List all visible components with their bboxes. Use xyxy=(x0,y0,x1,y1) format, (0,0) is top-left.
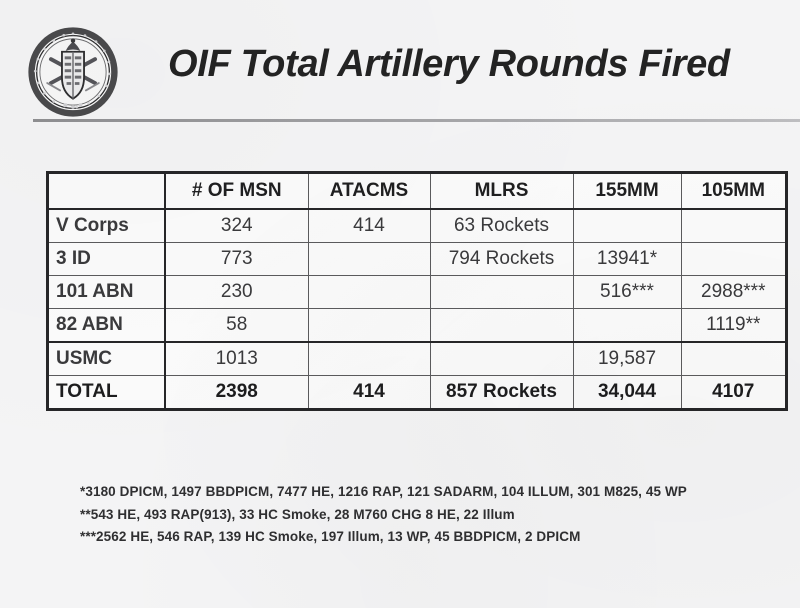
field-artillery-seal-icon xyxy=(27,26,119,118)
cell-mlrs: 857 Rockets xyxy=(430,376,573,410)
cell-atacms xyxy=(308,243,430,276)
title-divider-rule xyxy=(33,119,800,122)
cell-155mm xyxy=(573,309,681,343)
row-label-v-corps: V Corps xyxy=(48,209,165,243)
cell-msn: 773 xyxy=(165,243,308,276)
artillery-rounds-table: # OF MSN ATACMS MLRS 155MM 105MM V Corps… xyxy=(47,172,787,410)
cell-mlrs: 794 Rockets xyxy=(430,243,573,276)
cell-105mm xyxy=(681,342,786,376)
cell-155mm: 19,587 xyxy=(573,342,681,376)
cell-105mm: 2988*** xyxy=(681,276,786,309)
slide-header: OIF Total Artillery Rounds Fired xyxy=(0,0,800,132)
cell-155mm: 34,044 xyxy=(573,376,681,410)
footnotes-block: *3180 DPICM, 1497 BBDPICM, 7477 HE, 1216… xyxy=(80,482,780,547)
column-header-155mm: 155MM xyxy=(573,173,681,209)
cell-155mm xyxy=(573,209,681,243)
table-row: 82 ABN 58 1119** xyxy=(48,309,786,343)
table-row-total: TOTAL 2398 414 857 Rockets 34,044 4107 xyxy=(48,376,786,410)
table-row: USMC 1013 19,587 xyxy=(48,342,786,376)
table-row: 3 ID 773 794 Rockets 13941* xyxy=(48,243,786,276)
table-row: V Corps 324 414 63 Rockets xyxy=(48,209,786,243)
cell-155mm: 13941* xyxy=(573,243,681,276)
artillery-rounds-table-container: # OF MSN ATACMS MLRS 155MM 105MM V Corps… xyxy=(47,172,785,410)
row-label-total: TOTAL xyxy=(48,376,165,410)
cell-atacms xyxy=(308,342,430,376)
row-label-101-abn: 101 ABN xyxy=(48,276,165,309)
cell-msn: 58 xyxy=(165,309,308,343)
cell-msn: 1013 xyxy=(165,342,308,376)
cell-atacms: 414 xyxy=(308,376,430,410)
footnote-single-asterisk: *3180 DPICM, 1497 BBDPICM, 7477 HE, 1216… xyxy=(80,482,780,502)
cell-atacms: 414 xyxy=(308,209,430,243)
column-header-atacms: ATACMS xyxy=(308,173,430,209)
row-label-3-id: 3 ID xyxy=(48,243,165,276)
cell-atacms xyxy=(308,309,430,343)
cell-105mm: 4107 xyxy=(681,376,786,410)
cell-mlrs xyxy=(430,309,573,343)
column-header-105mm: 105MM xyxy=(681,173,786,209)
cell-msn: 2398 xyxy=(165,376,308,410)
cell-105mm xyxy=(681,243,786,276)
cell-msn: 230 xyxy=(165,276,308,309)
table-row: 101 ABN 230 516*** 2988*** xyxy=(48,276,786,309)
footnote-double-asterisk: **543 HE, 493 RAP(913), 33 HC Smoke, 28 … xyxy=(80,505,780,525)
cell-mlrs: 63 Rockets xyxy=(430,209,573,243)
column-header-mlrs: MLRS xyxy=(430,173,573,209)
page-title: OIF Total Artillery Rounds Fired xyxy=(168,43,730,86)
row-label-82-abn: 82 ABN xyxy=(48,309,165,343)
cell-155mm: 516*** xyxy=(573,276,681,309)
table-header-row: # OF MSN ATACMS MLRS 155MM 105MM xyxy=(48,173,786,209)
cell-atacms xyxy=(308,276,430,309)
row-label-usmc: USMC xyxy=(48,342,165,376)
column-header-msn: # OF MSN xyxy=(165,173,308,209)
cell-mlrs xyxy=(430,342,573,376)
cell-msn: 324 xyxy=(165,209,308,243)
column-header-unit xyxy=(48,173,165,209)
cell-105mm: 1119** xyxy=(681,309,786,343)
cell-mlrs xyxy=(430,276,573,309)
footnote-triple-asterisk: ***2562 HE, 546 RAP, 139 HC Smoke, 197 I… xyxy=(80,527,780,547)
cell-105mm xyxy=(681,209,786,243)
